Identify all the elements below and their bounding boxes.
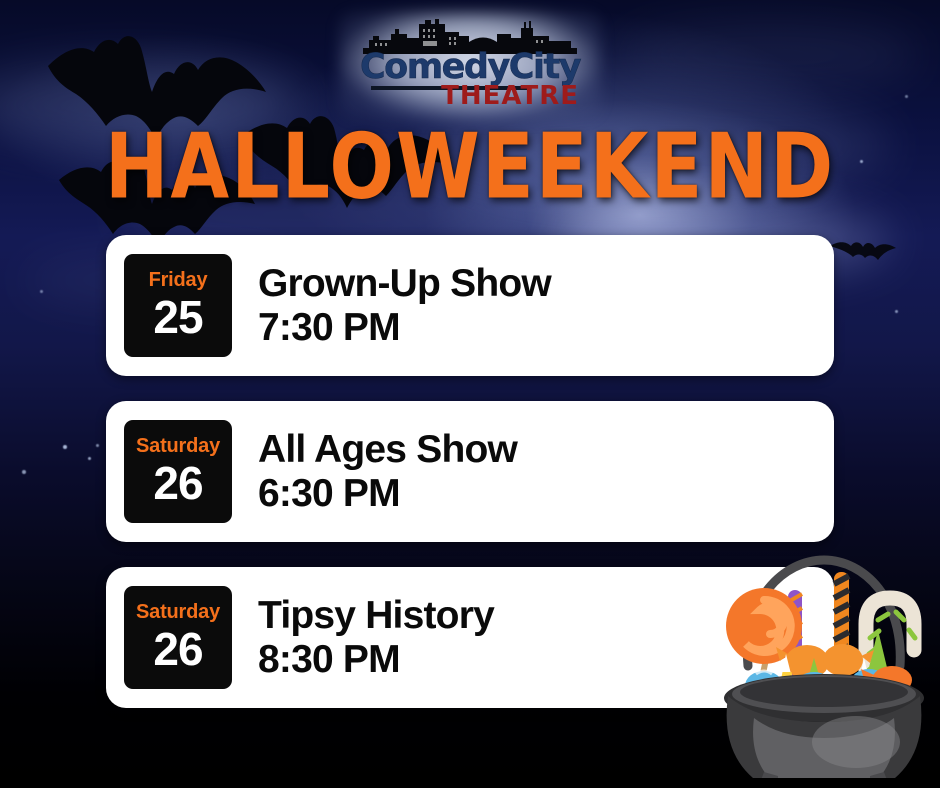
page-title: HALLOWEEKEND <box>0 122 940 212</box>
date-badge: Saturday 26 <box>124 420 232 523</box>
badge-date-number: 25 <box>153 293 202 341</box>
star <box>905 95 908 98</box>
date-badge: Friday 25 <box>124 254 232 357</box>
event-details: Tipsy History 8:30 PM <box>258 594 494 681</box>
logo-main-text: ComedyCity <box>357 50 583 85</box>
star <box>96 444 99 447</box>
event-card[interactable]: Friday 25 Grown-Up Show 7:30 PM <box>106 235 834 376</box>
event-time: 7:30 PM <box>258 306 551 350</box>
badge-day-label: Saturday <box>136 436 220 456</box>
event-details: Grown-Up Show 7:30 PM <box>258 262 551 349</box>
event-details: All Ages Show 6:30 PM <box>258 428 517 515</box>
event-time: 8:30 PM <box>258 638 494 682</box>
comedycity-theatre-logo: ComedyCity THEATRE <box>357 18 583 118</box>
halloween-event-poster: ComedyCity THEATRE HALLOWEEKEND Friday 2… <box>0 0 940 788</box>
star <box>895 310 898 313</box>
badge-date-number: 26 <box>153 625 202 673</box>
bat-silhouette-icon <box>828 238 898 272</box>
event-card[interactable]: Saturday 26 All Ages Show 6:30 PM <box>106 401 834 542</box>
cloud <box>620 20 920 90</box>
logo-sub-text: THEATRE <box>357 83 579 109</box>
badge-date-number: 26 <box>153 459 202 507</box>
star <box>40 290 43 293</box>
candy-cauldron-icon <box>706 546 940 778</box>
badge-day-label: Friday <box>149 270 208 290</box>
badge-day-label: Saturday <box>136 602 220 622</box>
star <box>22 470 26 474</box>
event-name: Tipsy History <box>258 594 494 638</box>
event-name: All Ages Show <box>258 428 517 472</box>
star <box>63 445 67 449</box>
date-badge: Saturday 26 <box>124 586 232 689</box>
star <box>88 457 91 460</box>
event-name: Grown-Up Show <box>258 262 551 306</box>
event-time: 6:30 PM <box>258 472 517 516</box>
